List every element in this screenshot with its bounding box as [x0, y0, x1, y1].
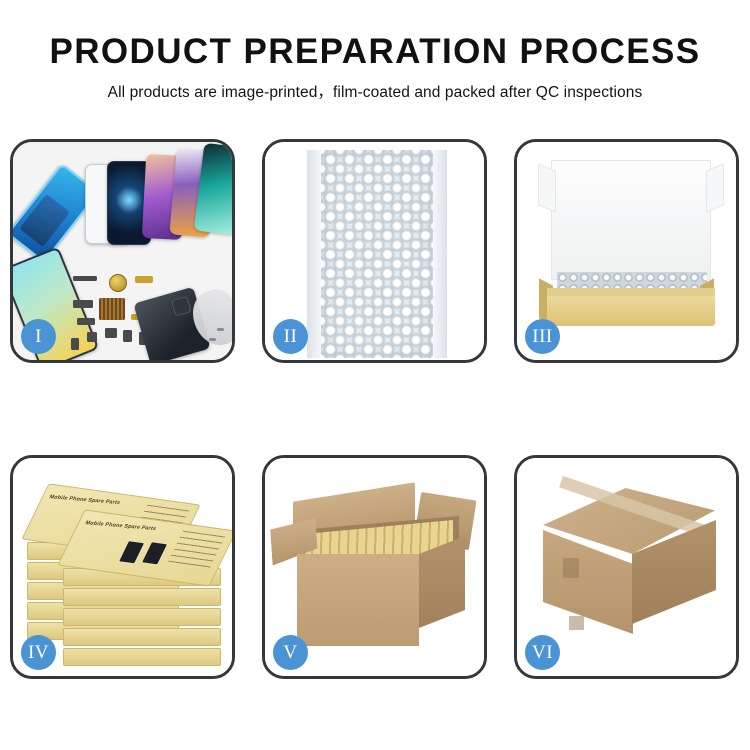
connector-icon	[77, 318, 95, 325]
connector-icon	[73, 300, 93, 308]
process-steps-grid: I II III	[10, 139, 740, 679]
button-part-icon	[87, 332, 97, 342]
step-badge-6: VI	[525, 635, 560, 670]
step-badge-4: IV	[21, 635, 56, 670]
carton-front-face	[297, 554, 419, 646]
box-label-text: Mobile Phone Spare Parts	[84, 520, 157, 532]
camera-module-icon	[105, 328, 117, 338]
white-box-lid-icon	[551, 160, 711, 280]
chip-board-icon	[99, 298, 125, 320]
page-header: PRODUCT PREPARATION PROCESS All products…	[0, 0, 750, 102]
step-badge-1: I	[21, 319, 56, 354]
speaker-coil-icon	[109, 274, 127, 292]
screw-icon	[209, 338, 216, 341]
sim-tray-icon	[71, 338, 79, 350]
process-step-panel-4: Mobile Phone Spare Parts Mobile Phone Sp…	[10, 455, 235, 679]
process-step-panel-2: II	[262, 139, 487, 363]
step-badge-3: III	[525, 319, 560, 354]
box-spec-lines	[167, 531, 226, 571]
bubble-wrap-right-edge	[431, 150, 447, 358]
carton-handle-tab	[569, 616, 584, 630]
process-step-panel-3: III	[514, 139, 739, 363]
process-step-panel-6: VI	[514, 455, 739, 679]
carton-handle-tab	[563, 558, 579, 578]
stacked-box-edge	[63, 628, 221, 646]
box-label-text: Mobile Phone Spare Parts	[48, 494, 121, 506]
page-title: PRODUCT PREPARATION PROCESS	[0, 34, 750, 71]
stacked-box-edge	[63, 608, 221, 626]
process-step-panel-1: I	[10, 139, 235, 363]
step-badge-2: II	[273, 319, 308, 354]
stacked-box-edge	[63, 648, 221, 666]
page-subtitle: All products are image-printed，film-coat…	[0, 80, 750, 102]
kraft-tray-front-icon	[547, 296, 715, 326]
screw-icon	[217, 328, 224, 331]
stacked-box-edge	[63, 588, 221, 606]
step-badge-5: V	[273, 635, 308, 670]
earpiece-mesh-icon	[73, 276, 97, 281]
bubble-wrap-sleeve-icon	[321, 150, 433, 358]
process-step-panel-5: V	[262, 455, 487, 679]
box-artwork-thumbnail	[141, 541, 169, 565]
flex-cable-icon	[135, 276, 153, 283]
vibrator-motor-icon	[123, 330, 132, 342]
